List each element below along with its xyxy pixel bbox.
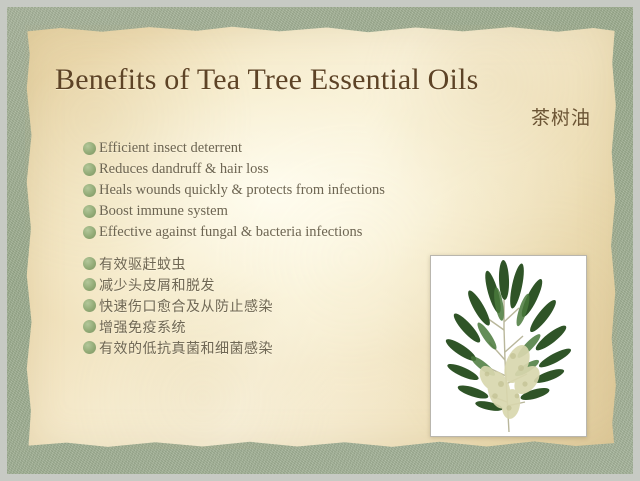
slide-root: Benefits of Tea Tree Essential Oils 茶树油 … <box>0 0 640 481</box>
list-item: Heals wounds quickly & protects from inf… <box>83 180 385 201</box>
bullet-dot-icon <box>83 163 96 176</box>
bullet-dot-icon <box>83 226 96 239</box>
benefit-label: 快速伤口愈合及从防止感染 <box>99 296 273 316</box>
list-item: 增强免疫系统 <box>83 316 273 337</box>
bullet-dot-icon <box>83 142 96 155</box>
bullet-dot-icon <box>83 257 96 270</box>
bullet-dot-icon <box>83 278 96 291</box>
benefit-label: Boost immune system <box>99 203 228 220</box>
benefit-label: 有效驱赶蚊虫 <box>99 254 186 274</box>
list-item: 有效驱赶蚊虫 <box>83 253 273 274</box>
list-item: 减少头皮屑和脱发 <box>83 274 273 295</box>
list-item: Boost immune system <box>83 201 385 222</box>
slide-content: Benefits of Tea Tree Essential Oils 茶树油 … <box>25 25 617 449</box>
benefits-list-english: Efficient insect deterrent Reduces dandr… <box>83 138 385 243</box>
list-item: Effective against fungal & bacteria infe… <box>83 222 385 243</box>
benefit-label: 有效的低抗真菌和细菌感染 <box>99 338 273 358</box>
bullet-dot-icon <box>83 205 96 218</box>
benefit-label: Efficient insect deterrent <box>99 140 242 157</box>
tea-tree-branch-photo <box>430 255 587 437</box>
bullet-dot-icon <box>83 299 96 312</box>
benefits-list-chinese: 有效驱赶蚊虫 减少头皮屑和脱发 快速伤口愈合及从防止感染 增强免疫系统 有效的低… <box>83 253 273 358</box>
benefit-label: Heals wounds quickly & protects from inf… <box>99 182 385 199</box>
bullet-dot-icon <box>83 341 96 354</box>
bullet-dot-icon <box>83 184 96 197</box>
benefit-label: Reduces dandruff & hair loss <box>99 161 269 178</box>
benefit-label: 减少头皮屑和脱发 <box>99 275 215 295</box>
list-item: Efficient insect deterrent <box>83 138 385 159</box>
benefit-label: Effective against fungal & bacteria infe… <box>99 224 362 241</box>
list-item: 有效的低抗真菌和细菌感染 <box>83 337 273 358</box>
subtitle-chinese: 茶树油 <box>531 103 591 130</box>
list-item: Reduces dandruff & hair loss <box>83 159 385 180</box>
benefit-label: 增强免疫系统 <box>99 317 186 337</box>
tea-tree-branch-illustration <box>431 256 586 436</box>
parchment-sheet: Benefits of Tea Tree Essential Oils 茶树油 … <box>25 25 617 449</box>
page-title: Benefits of Tea Tree Essential Oils <box>55 63 595 97</box>
list-item: 快速伤口愈合及从防止感染 <box>83 295 273 316</box>
bullet-dot-icon <box>83 320 96 333</box>
